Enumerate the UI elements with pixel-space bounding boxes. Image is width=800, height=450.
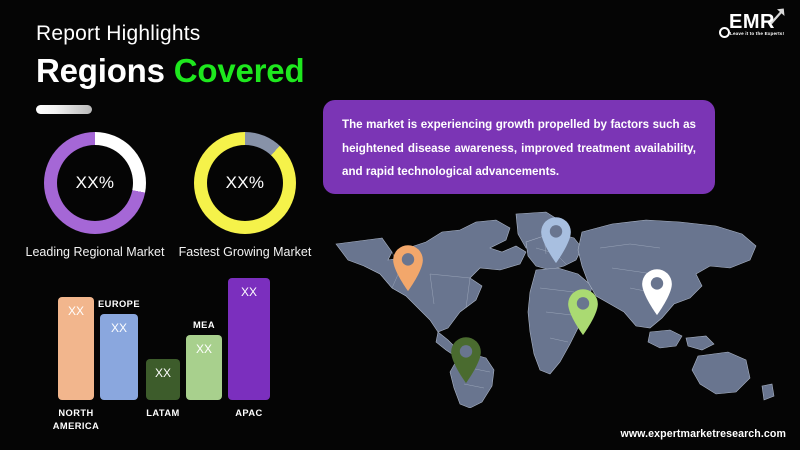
pin-hole <box>402 253 414 265</box>
emr-logo: EMR Leave it to the Experts! <box>706 5 790 45</box>
map-landmass <box>648 330 682 348</box>
pin-hole <box>460 345 472 357</box>
bar-value-label: XX <box>196 342 212 356</box>
bar-mea: XX <box>186 335 222 400</box>
map-landmass <box>336 220 526 332</box>
market-insight-callout: The market is experiencing growth propel… <box>323 100 715 194</box>
bar-category-label: NORTH AMERICA <box>38 407 114 432</box>
donut-value-0: XX% <box>76 173 115 193</box>
regions-bar-chart: XXNORTH AMERICAXXEUROPEXXLATAMXXMEAXXAPA… <box>0 0 330 450</box>
bar-latam: XX <box>146 359 180 400</box>
world-map <box>330 208 800 408</box>
bar-category-label: EUROPE <box>81 298 157 311</box>
pin-hole <box>577 297 589 309</box>
callout-text: The market is experiencing growth propel… <box>342 113 696 184</box>
logo-tagline: Leave it to the Experts! <box>730 31 784 36</box>
bar-value-label: XX <box>111 321 127 335</box>
map-landmass <box>762 384 774 400</box>
map-landmass <box>686 336 714 350</box>
donut-value-1: XX% <box>226 173 265 193</box>
slide-root: Report Highlights Regions Covered EMR Le… <box>0 0 800 450</box>
pin-hole <box>651 277 663 289</box>
bar-value-label: XX <box>241 285 257 299</box>
map-landmass <box>692 352 750 394</box>
pin-hole <box>550 225 562 237</box>
bar-apac: XX <box>228 278 270 400</box>
bar-category-label: LATAM <box>125 407 201 420</box>
bar-value-label: XX <box>155 366 171 380</box>
footer-url: www.expertmarketresearch.com <box>620 428 786 440</box>
logo-text: EMR <box>729 12 775 32</box>
bar-europe: XX <box>100 314 138 400</box>
bar-category-label: APAC <box>211 407 287 420</box>
world-map-svg <box>330 208 800 408</box>
bar-north-america: XX <box>58 297 94 400</box>
